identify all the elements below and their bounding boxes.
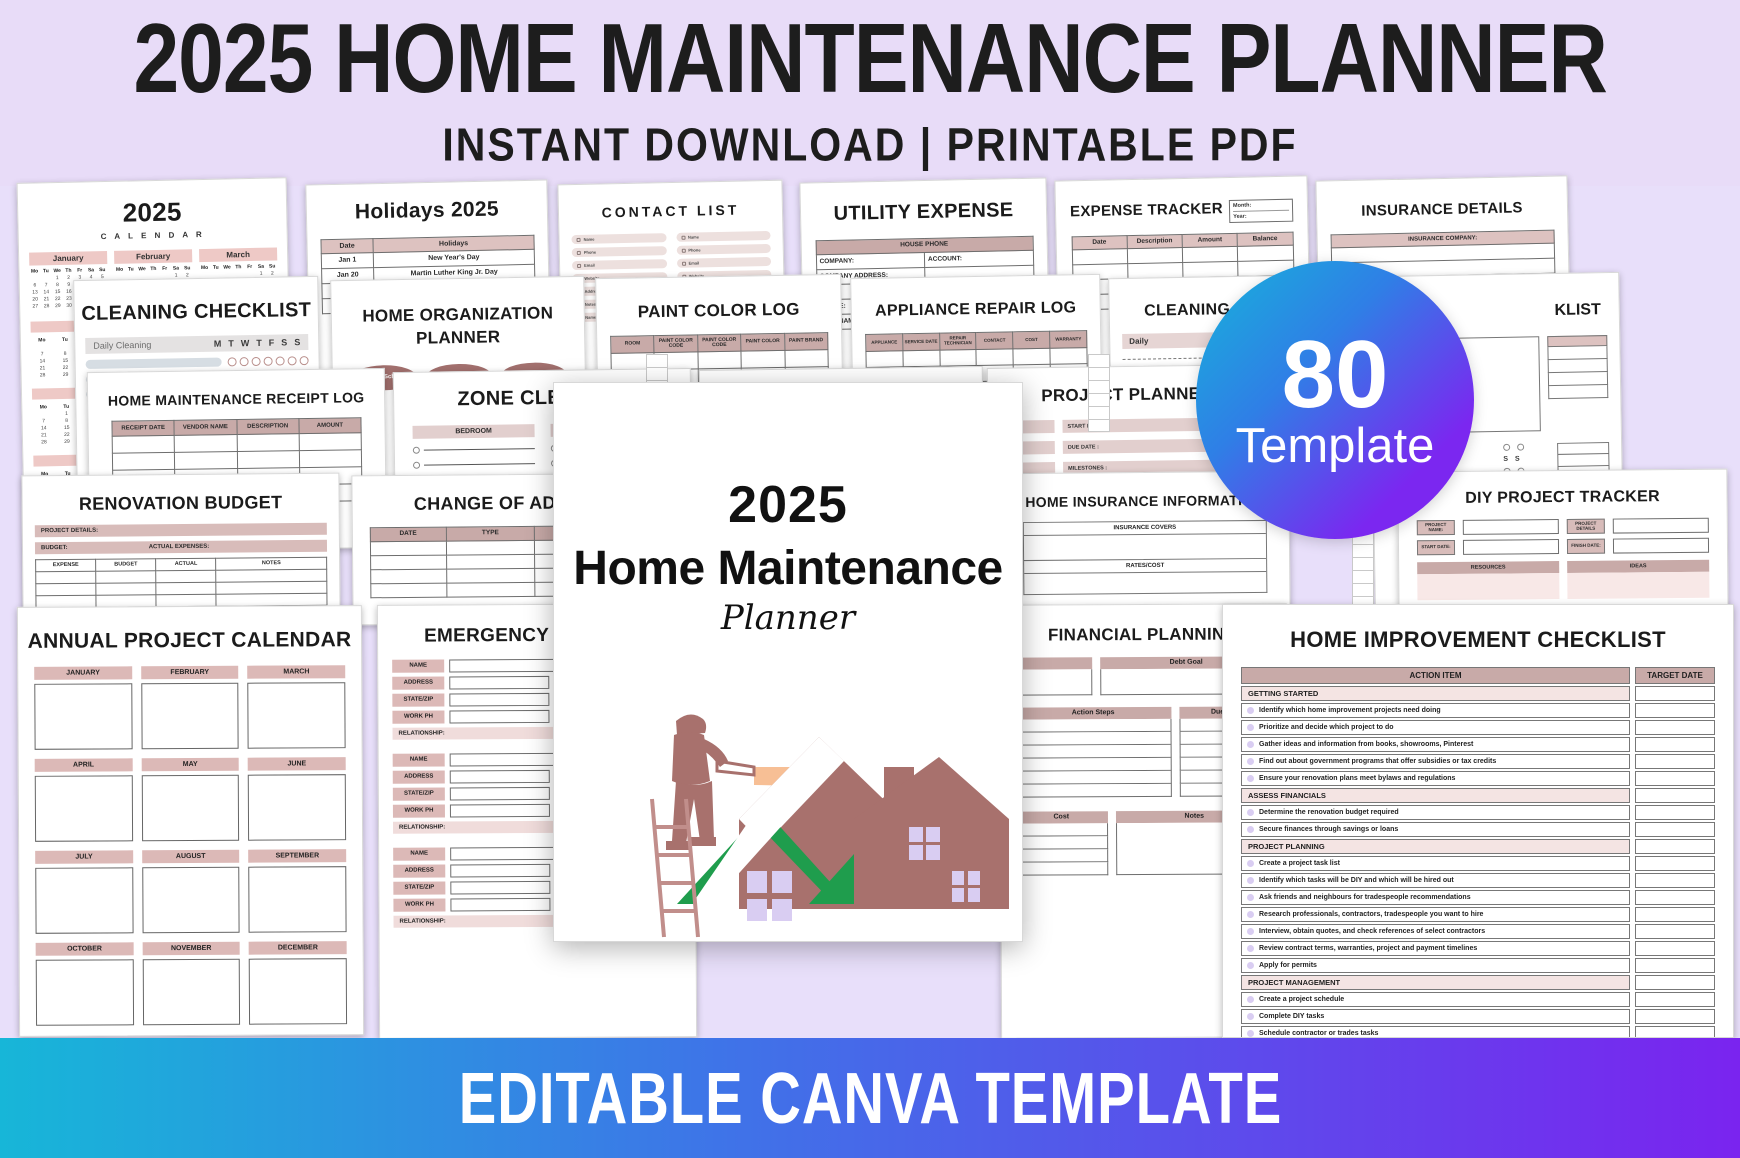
page-annual-project-calendar[interactable]: ANNUAL PROJECT CALENDAR JANUARY FEBRUARY… bbox=[17, 605, 364, 1037]
checkbox-dot-icon[interactable] bbox=[1247, 741, 1254, 748]
renovation-bar-project-details: PROJECT DETAILS: bbox=[35, 523, 327, 538]
month-cell[interactable] bbox=[36, 959, 134, 1026]
checklist-item-label: Determine the renovation budget required bbox=[1259, 809, 1399, 816]
emergency-input-statezip[interactable] bbox=[450, 881, 550, 895]
home-improvement-checklist-title: HOME IMPROVEMENT CHECKLIST bbox=[1223, 627, 1733, 653]
checklist-item-label: Review contract terms, warranties, proje… bbox=[1259, 945, 1477, 952]
checkbox-dot-icon[interactable] bbox=[1247, 758, 1254, 765]
check-circle[interactable] bbox=[288, 356, 297, 365]
month-label: AUGUST bbox=[142, 850, 240, 864]
diy-label-project-name: PROJECT NAME: bbox=[1417, 520, 1455, 535]
renovation-budget-title: RENOVATION BUDGET bbox=[23, 492, 339, 516]
checklist-item-label: Ensure your renovation plans meet bylaws… bbox=[1259, 775, 1455, 782]
diy-input-project-name[interactable] bbox=[1463, 519, 1559, 535]
footer-banner: EDITABLE CANVA TEMPLATE bbox=[0, 1038, 1740, 1158]
annual-project-calendar-title: ANNUAL PROJECT CALENDAR bbox=[18, 628, 361, 654]
diy-label-project-details: PROJECT DETAILS bbox=[1567, 519, 1605, 534]
checklist-row[interactable]: Complete DIY tasks bbox=[1241, 1009, 1715, 1024]
header-banner: 2025 HOME MAINTENANCE PLANNER INSTANT DO… bbox=[0, 0, 1740, 186]
checkbox-dot-icon[interactable] bbox=[1247, 707, 1254, 714]
financial-header-cost: Cost bbox=[1015, 811, 1108, 823]
renovation-budget-table: EXPENSE BUDGET ACTUAL NOTES bbox=[35, 557, 327, 609]
check-circle[interactable] bbox=[1517, 444, 1524, 451]
checkbox-dot-icon[interactable] bbox=[1247, 894, 1254, 901]
checklist-target-date-cell[interactable] bbox=[1635, 907, 1715, 922]
month-cell[interactable] bbox=[249, 866, 347, 933]
checklist-row[interactable]: Gather ideas and information from books,… bbox=[1241, 737, 1715, 752]
holidays-title: Holidays 2025 bbox=[307, 197, 547, 226]
template-collage: 2025 C A L E N D A R January MoTuWeThFrS… bbox=[0, 186, 1740, 1038]
checklist-target-date-cell[interactable] bbox=[1635, 788, 1715, 803]
paint-color-log-title: PAINT COLOR LOG bbox=[597, 299, 841, 323]
checklist-item-label: Prioritize and decide which project to d… bbox=[1259, 724, 1394, 731]
month-label: MARCH bbox=[248, 665, 346, 679]
header-subtitle: INSTANT DOWNLOAD | PRINTABLE PDF bbox=[442, 119, 1297, 172]
checklist-target-date-cell[interactable] bbox=[1635, 754, 1715, 769]
cleaning-col-label: Daily Cleaning bbox=[93, 339, 214, 351]
checklist-row[interactable]: Ask friends and neighbours for tradespeo… bbox=[1241, 890, 1715, 905]
checklist-row[interactable]: Ensure your renovation plans meet bylaws… bbox=[1241, 771, 1715, 786]
checkbox-dot-icon[interactable] bbox=[1247, 962, 1254, 969]
person-icon bbox=[681, 235, 685, 239]
checkbox-dot-icon[interactable] bbox=[1247, 945, 1254, 952]
checklist-target-date-cell[interactable] bbox=[1635, 992, 1715, 1007]
house-illustration bbox=[554, 649, 1023, 942]
holidays-col-date: Date bbox=[321, 239, 373, 254]
checklist-group-header: ASSESS FINANCIALS bbox=[1241, 788, 1715, 803]
table-row[interactable] bbox=[1015, 771, 1172, 785]
checklist-body: GETTING STARTEDIdentify which home impro… bbox=[1241, 686, 1715, 1038]
checklist-col-action-item: ACTION ITEM bbox=[1241, 667, 1630, 684]
check-circle[interactable] bbox=[276, 356, 285, 365]
page-title: 2025 HOME MAINTENANCE PLANNER bbox=[133, 10, 1606, 108]
checklist-item-label: Identify which tasks will be DIY and whi… bbox=[1259, 877, 1454, 884]
check-circle[interactable] bbox=[252, 357, 261, 366]
phone-icon bbox=[577, 250, 581, 254]
checklist-target-date-cell[interactable] bbox=[1635, 839, 1715, 854]
home-org-title-2: PLANNER bbox=[332, 326, 584, 350]
footer-text: EDITABLE CANVA TEMPLATE bbox=[458, 1056, 1281, 1140]
check-circle[interactable] bbox=[240, 357, 249, 366]
emergency-input-workph[interactable] bbox=[450, 804, 550, 818]
expense-meta-box[interactable]: Month: Year: bbox=[1229, 199, 1293, 223]
checklist-item-label: Complete DIY tasks bbox=[1259, 1013, 1324, 1020]
cover-year: 2025 bbox=[554, 475, 1022, 535]
checklist-row[interactable]: Identify which home improvement projects… bbox=[1241, 703, 1715, 718]
badge-80-template: 80 Template bbox=[1196, 261, 1474, 539]
table-row[interactable] bbox=[1015, 862, 1108, 875]
emergency-input-address[interactable] bbox=[449, 676, 549, 690]
table-row[interactable] bbox=[1015, 758, 1172, 772]
contact-field: Email bbox=[676, 257, 771, 268]
month-cell[interactable] bbox=[248, 682, 346, 749]
checklist-target-date-cell[interactable] bbox=[1635, 1009, 1715, 1024]
checklist-item-label: Create a project schedule bbox=[1259, 996, 1344, 1003]
calendar-month-label: March bbox=[199, 247, 277, 262]
checkbox-dot-icon[interactable] bbox=[1247, 860, 1254, 867]
checklist-row[interactable]: Interview, obtain quotes, and check refe… bbox=[1241, 924, 1715, 939]
checklist-group-label: PROJECT MANAGEMENT bbox=[1241, 975, 1630, 990]
checklist-row[interactable]: Secure finances through savings or loans bbox=[1241, 822, 1715, 837]
checklist-row[interactable]: Research professionals, contractors, tra… bbox=[1241, 907, 1715, 922]
renovation-bar-actual-expenses: ACTUAL EXPENSES: bbox=[149, 543, 321, 551]
badge-number: 80 bbox=[1282, 329, 1389, 420]
checklist-item-label: Schedule contractor or trades tasks bbox=[1259, 1030, 1378, 1037]
checklist-item-label: Secure finances through savings or loans bbox=[1259, 826, 1398, 833]
checklist-target-date-cell[interactable] bbox=[1635, 924, 1715, 939]
checklist-row[interactable]: Create a project schedule bbox=[1241, 992, 1715, 1007]
calendar-title: 2025 bbox=[18, 194, 287, 231]
checklist-row[interactable]: Determine the renovation budget required bbox=[1241, 805, 1715, 820]
table-row[interactable] bbox=[1015, 823, 1108, 836]
checklist-group-header: PROJECT PLANNING bbox=[1241, 839, 1715, 854]
month-cell[interactable] bbox=[35, 775, 133, 842]
month-label: DECEMBER bbox=[249, 941, 347, 955]
receipt-log-title: HOME MAINTENANCE RECEIPT LOG bbox=[88, 389, 384, 409]
checklist-row[interactable]: Apply for permits bbox=[1241, 958, 1715, 973]
checklist-target-date-cell[interactable] bbox=[1635, 720, 1715, 735]
check-circle[interactable] bbox=[264, 357, 273, 366]
table-row[interactable] bbox=[1015, 784, 1172, 798]
emergency-input-statezip[interactable] bbox=[449, 693, 549, 707]
appliance-repair-log-title: APPLIANCE REPAIR LOG bbox=[852, 299, 1100, 321]
checklist-target-date-cell[interactable] bbox=[1635, 805, 1715, 820]
renovation-bar-budget: BUDGET: bbox=[41, 544, 149, 551]
checklist-target-date-cell[interactable] bbox=[1635, 771, 1715, 786]
month-cell[interactable] bbox=[141, 683, 239, 750]
month-label: FEBRUARY bbox=[141, 666, 239, 680]
table-row[interactable] bbox=[1015, 849, 1108, 862]
contact-field: Phone bbox=[676, 244, 771, 255]
ladder-decoration bbox=[1088, 354, 1110, 432]
checkbox-dot-icon[interactable] bbox=[1247, 911, 1254, 918]
check-circle[interactable] bbox=[228, 357, 237, 366]
diy-input-project-details[interactable] bbox=[1613, 518, 1709, 534]
page-cover[interactable]: 2025 Home Maintenance Planner bbox=[553, 382, 1023, 942]
table-row[interactable] bbox=[1015, 745, 1172, 759]
month-label: JULY bbox=[35, 850, 133, 864]
checklist-target-date-cell[interactable] bbox=[1635, 890, 1715, 905]
checklist-item-label: Apply for permits bbox=[1259, 962, 1317, 969]
check-circle[interactable] bbox=[1503, 444, 1510, 451]
diy-label-finish-date: FINISH DATE: bbox=[1567, 539, 1605, 554]
month-cell[interactable] bbox=[248, 774, 346, 841]
expense-tracker-title: EXPENSE TRACKER bbox=[1070, 200, 1229, 220]
checkbox-dot-icon[interactable] bbox=[1247, 724, 1254, 731]
checklist-target-date-cell[interactable] bbox=[1635, 941, 1715, 956]
table-row[interactable] bbox=[1015, 732, 1172, 746]
checklist-row[interactable]: Find out about government programs that … bbox=[1241, 754, 1715, 769]
checklist-group-header: PROJECT MANAGEMENT bbox=[1241, 975, 1715, 990]
checklist-item-label: Ask friends and neighbours for tradespeo… bbox=[1259, 894, 1471, 901]
month-cell[interactable] bbox=[34, 683, 132, 750]
badge-label: Template bbox=[1236, 422, 1435, 471]
checklist-row[interactable]: Schedule contractor or trades tasks bbox=[1241, 1026, 1715, 1038]
checklist-group-header: GETTING STARTED bbox=[1241, 686, 1715, 701]
insurance-details-title: INSURANCE DETAILS bbox=[1317, 198, 1567, 220]
calendar-month-label: February bbox=[114, 249, 192, 264]
contact-field: Name bbox=[571, 233, 666, 244]
checklist-item-label: Find out about government programs that … bbox=[1259, 758, 1496, 765]
emergency-input-workph[interactable] bbox=[450, 898, 550, 912]
contact-field: Email bbox=[572, 259, 667, 270]
checklist-target-date-cell[interactable] bbox=[1635, 703, 1715, 718]
page-diy-project-tracker[interactable]: DIY PROJECT TRACKER PROJECT NAME: PROJEC… bbox=[1397, 469, 1728, 626]
home-org-title-1: HOME ORGANIZATION bbox=[332, 303, 584, 327]
month-label: MAY bbox=[141, 758, 239, 772]
checklist-target-date-cell[interactable] bbox=[1635, 958, 1715, 973]
emergency-input-workph[interactable] bbox=[449, 710, 549, 724]
month-cell[interactable] bbox=[141, 775, 239, 842]
checkbox-dot-icon[interactable] bbox=[1247, 877, 1254, 884]
check-circle[interactable] bbox=[413, 462, 420, 469]
page-home-improvement-checklist[interactable]: HOME IMPROVEMENT CHECKLIST ACTION ITEM T… bbox=[1222, 604, 1734, 1038]
checklist-target-date-cell[interactable] bbox=[1635, 873, 1715, 888]
utility-expense-title: UTILITY EXPENSE bbox=[801, 198, 1046, 226]
checklist-group-label: GETTING STARTED bbox=[1241, 686, 1630, 701]
checklist-target-date-cell[interactable] bbox=[1635, 686, 1715, 701]
checkbox-dot-icon[interactable] bbox=[1247, 809, 1254, 816]
checkbox-dot-icon[interactable] bbox=[1247, 826, 1254, 833]
cleaning-checklist-title: CLEANING CHECKLIST bbox=[75, 299, 318, 326]
page-renovation-budget[interactable]: RENOVATION BUDGET PROJECT DETAILS: BUDGE… bbox=[21, 473, 340, 624]
financial-box-left[interactable] bbox=[1014, 669, 1092, 695]
checklist-item-label: Gather ideas and information from books,… bbox=[1259, 741, 1473, 748]
checklist-item-label: Create a project task list bbox=[1259, 860, 1340, 867]
diy-label-start-date: START DATE: bbox=[1417, 540, 1455, 555]
checklist-item-label: Research professionals, contractors, tra… bbox=[1259, 911, 1483, 918]
zone-label: BEDROOM bbox=[412, 424, 534, 439]
cover-script: Planner bbox=[554, 598, 1022, 638]
checklist-target-date-cell[interactable] bbox=[1635, 737, 1715, 752]
mail-icon bbox=[682, 261, 686, 265]
checklist-row[interactable]: Identify which tasks will be DIY and whi… bbox=[1241, 873, 1715, 888]
checklist-row[interactable]: Review contract terms, warranties, proje… bbox=[1241, 941, 1715, 956]
month-label: APRIL bbox=[35, 758, 133, 772]
month-label: OCTOBER bbox=[36, 942, 134, 956]
checkbox-dot-icon[interactable] bbox=[1247, 1013, 1254, 1020]
check-circle[interactable] bbox=[300, 356, 309, 365]
checklist-group-label: PROJECT PLANNING bbox=[1241, 839, 1630, 854]
month-label: SEPTEMBER bbox=[248, 849, 346, 863]
person-icon bbox=[577, 237, 581, 241]
phone-icon bbox=[681, 248, 685, 252]
month-label: JUNE bbox=[248, 757, 346, 771]
checklist-target-date-cell[interactable] bbox=[1635, 856, 1715, 871]
checklist-col-target-date: TARGET DATE bbox=[1635, 667, 1715, 684]
month-cell[interactable] bbox=[35, 867, 133, 934]
checkbox-dot-icon[interactable] bbox=[1247, 775, 1254, 782]
emergency-input-address[interactable] bbox=[450, 770, 550, 784]
checkbox-dot-icon[interactable] bbox=[1247, 996, 1254, 1003]
diy-input-start-date[interactable] bbox=[1463, 539, 1559, 555]
mail-icon bbox=[577, 263, 581, 267]
checklist-row[interactable]: Prioritize and decide which project to d… bbox=[1241, 720, 1715, 735]
checkbox-dot-icon[interactable] bbox=[1247, 1030, 1254, 1037]
contact-field: Phone bbox=[572, 246, 667, 257]
table-row[interactable] bbox=[1015, 836, 1108, 849]
checklist-target-date-cell[interactable] bbox=[1635, 1026, 1715, 1038]
emergency-input-address[interactable] bbox=[450, 864, 550, 878]
check-circle[interactable] bbox=[413, 447, 420, 454]
cover-title: Home Maintenance bbox=[554, 541, 1022, 596]
month-cell[interactable] bbox=[142, 959, 240, 1026]
calendar-month-label: January bbox=[29, 251, 107, 266]
checklist-row[interactable]: Create a project task list bbox=[1241, 856, 1715, 871]
month-label: JANUARY bbox=[34, 666, 132, 680]
table-row[interactable] bbox=[1014, 719, 1171, 733]
checklist-item-label: Identify which home improvement projects… bbox=[1259, 707, 1441, 714]
checklist-target-date-cell[interactable] bbox=[1635, 822, 1715, 837]
emergency-input-statezip[interactable] bbox=[450, 787, 550, 801]
month-cell[interactable] bbox=[142, 867, 240, 934]
month-cell[interactable] bbox=[249, 958, 347, 1025]
checklist-group-label: ASSESS FINANCIALS bbox=[1241, 788, 1630, 803]
month-label: NOVEMBER bbox=[142, 942, 240, 956]
diy-input-finish-date[interactable] bbox=[1613, 538, 1709, 554]
contact-field: Name bbox=[676, 231, 771, 242]
checkbox-dot-icon[interactable] bbox=[1247, 928, 1254, 935]
checklist-item-label: Interview, obtain quotes, and check refe… bbox=[1259, 928, 1485, 935]
financial-header-action-steps: Action Steps bbox=[1014, 707, 1171, 720]
checklist-target-date-cell[interactable] bbox=[1635, 975, 1715, 990]
